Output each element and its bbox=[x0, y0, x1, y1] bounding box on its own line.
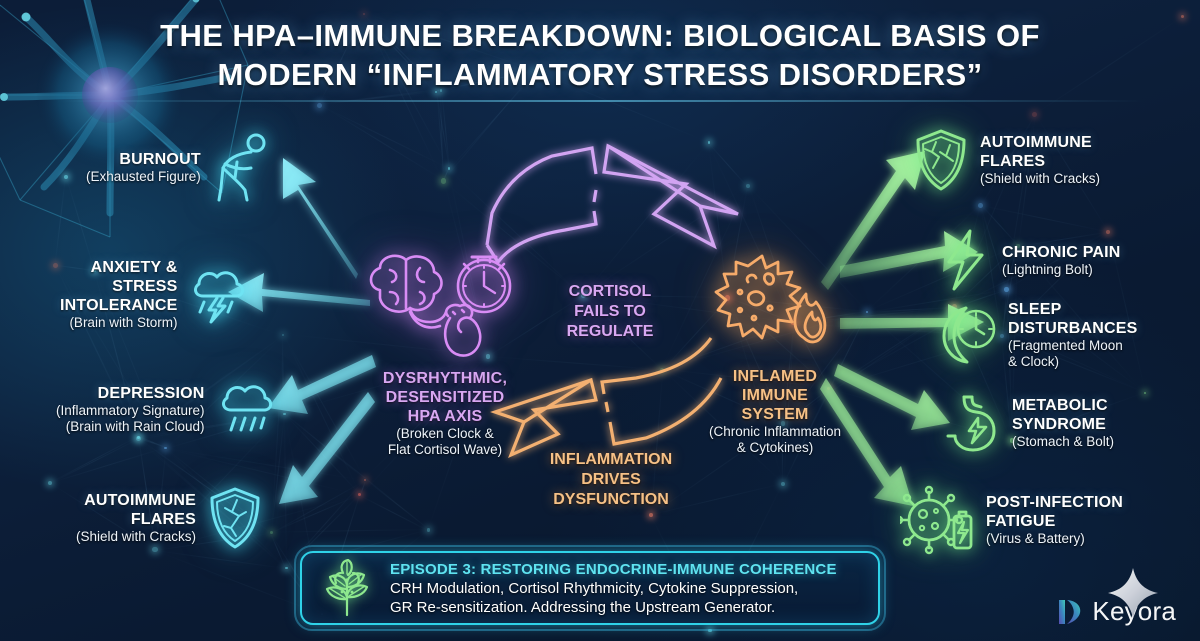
outcome-title: AUTOIMMUNE FLARES bbox=[980, 133, 1092, 171]
network-line bbox=[583, 142, 709, 296]
brain-clock-kidney-icon bbox=[360, 248, 530, 363]
cracked-shield-icon bbox=[206, 486, 264, 550]
network-node bbox=[283, 413, 286, 416]
episode-body-line-2: GR Re-sensitization. Addressing the Upst… bbox=[390, 598, 837, 617]
network-line bbox=[708, 143, 748, 187]
inflammation-drives-label: INFLAMMATION DRIVES DYSFUNCTION bbox=[516, 450, 706, 510]
page-title: THE HPA–IMMUNE BREAKDOWN: BIOLOGICAL BAS… bbox=[0, 16, 1200, 94]
outcome-depression[interactable]: DEPRESSION (Inflammatory Signature) (Bra… bbox=[56, 380, 277, 438]
network-node bbox=[441, 178, 446, 183]
network-line bbox=[284, 413, 360, 494]
outcome-subtitle: (Lightning Bolt) bbox=[1002, 262, 1093, 278]
stomach-bolt-icon bbox=[944, 392, 1002, 454]
episode-banner[interactable]: EPISODE 3: RESTORING ENDOCRINE-IMMUNE CO… bbox=[300, 551, 880, 625]
inflamed-cell-flame-icon bbox=[710, 248, 840, 363]
outcome-chronic-pain[interactable]: CHRONIC PAIN (Lightning Bolt) bbox=[940, 228, 1121, 292]
hpa-axis-title: DYSRHYTHMIC, DESENSITIZED HPA AXIS bbox=[360, 369, 530, 426]
outcome-metabolic-syndrome[interactable]: METABOLIC SYNDROME (Stomach & Bolt) bbox=[944, 392, 1114, 454]
network-node bbox=[427, 528, 430, 531]
network-node bbox=[285, 567, 288, 570]
virus-battery-icon bbox=[900, 484, 976, 556]
hub-hpa-axis[interactable]: DYSRHYTHMIC, DESENSITIZED HPA AXIS (Brok… bbox=[360, 248, 535, 458]
outcome-subtitle: (Virus & Battery) bbox=[986, 531, 1085, 547]
storm-cloud-icon bbox=[187, 264, 249, 326]
outcome-sleep-disturbances[interactable]: SLEEP DISTURBANCES (Fragmented Moon & Cl… bbox=[936, 300, 1138, 370]
title-line-1: THE HPA–IMMUNE BREAKDOWN: BIOLOGICAL BAS… bbox=[0, 16, 1200, 55]
outcome-post-infection-fatigue[interactable]: POST-INFECTION FATIGUE (Virus & Battery) bbox=[900, 484, 1123, 556]
outcome-subtitle: (Brain with Storm) bbox=[69, 315, 177, 331]
exhausted-figure-icon bbox=[211, 132, 273, 202]
cortisol-fails-label: CORTISOL FAILS TO REGULATE bbox=[540, 282, 680, 342]
network-line bbox=[50, 439, 139, 485]
herbal-plant-icon bbox=[316, 559, 378, 617]
outcome-autoimmune-flares-right[interactable]: AUTOIMMUNE FLARES (Shield with Cracks) bbox=[912, 128, 1100, 192]
outcome-subtitle: (Shield with Cracks) bbox=[76, 529, 196, 545]
outcome-subtitle: (Fragmented Moon & Clock) bbox=[1008, 338, 1123, 370]
cracked-shield-icon bbox=[912, 128, 970, 192]
hpa-axis-subtitle: (Broken Clock & Flat Cortisol Wave) bbox=[355, 426, 535, 458]
infographic-canvas: THE HPA–IMMUNE BREAKDOWN: BIOLOGICAL BAS… bbox=[0, 0, 1200, 641]
outcome-burnout[interactable]: BURNOUT (Exhausted Figure) bbox=[86, 132, 273, 202]
outcome-title: METABOLIC SYNDROME bbox=[1012, 396, 1108, 434]
network-line bbox=[284, 414, 287, 568]
network-node bbox=[164, 447, 167, 450]
outcome-title: ANXIETY & STRESS INTOLERANCE bbox=[60, 258, 177, 315]
hub-inflamed-immune[interactable]: INFLAMED IMMUNE SYSTEM (Chronic Inflamma… bbox=[700, 248, 875, 456]
outcome-anxiety-stress-intolerance[interactable]: ANXIETY & STRESS INTOLERANCE (Brain with… bbox=[60, 258, 249, 331]
outcome-subtitle: (Shield with Cracks) bbox=[980, 171, 1100, 187]
network-node bbox=[270, 531, 273, 534]
outcome-title: BURNOUT bbox=[119, 150, 200, 169]
immune-title: INFLAMED IMMUNE SYSTEM bbox=[710, 367, 840, 424]
brand-logo[interactable]: Keyora bbox=[1056, 596, 1176, 627]
outcome-title: DEPRESSION bbox=[98, 384, 205, 403]
keyora-k-logo bbox=[1056, 597, 1086, 627]
outcome-title: AUTOIMMUNE FLARES bbox=[84, 491, 196, 529]
title-line-2: MODERN “INFLAMMATORY STRESS DISORDERS” bbox=[0, 55, 1200, 94]
network-node bbox=[781, 482, 785, 486]
outcome-subtitle: (Exhausted Figure) bbox=[86, 169, 201, 185]
outcome-title: CHRONIC PAIN bbox=[1002, 243, 1121, 262]
network-node bbox=[649, 513, 653, 517]
outcome-autoimmune-flares-left[interactable]: AUTOIMMUNE FLARES (Shield with Cracks) bbox=[76, 486, 264, 550]
moon-clock-icon bbox=[936, 304, 998, 366]
network-line bbox=[320, 104, 450, 168]
outcome-subtitle: (Inflammatory Signature) (Brain with Rai… bbox=[56, 403, 205, 435]
rain-cloud-icon bbox=[215, 380, 277, 438]
title-divider bbox=[55, 100, 1145, 102]
episode-body-line-1: CRH Modulation, Cortisol Rhythmicity, Cy… bbox=[390, 579, 837, 598]
network-node bbox=[1144, 392, 1146, 394]
network-line bbox=[271, 529, 429, 533]
outcome-title: POST-INFECTION FATIGUE bbox=[986, 493, 1123, 531]
lightning-bolt-icon bbox=[940, 228, 992, 292]
network-node bbox=[708, 141, 710, 143]
episode-heading: EPISODE 3: RESTORING ENDOCRINE-IMMUNE CO… bbox=[390, 560, 837, 579]
four-point-star-icon bbox=[1106, 566, 1160, 620]
outcome-subtitle: (Stomach & Bolt) bbox=[1012, 434, 1114, 450]
network-node bbox=[317, 103, 322, 108]
outcome-title: SLEEP DISTURBANCES bbox=[1008, 300, 1138, 338]
